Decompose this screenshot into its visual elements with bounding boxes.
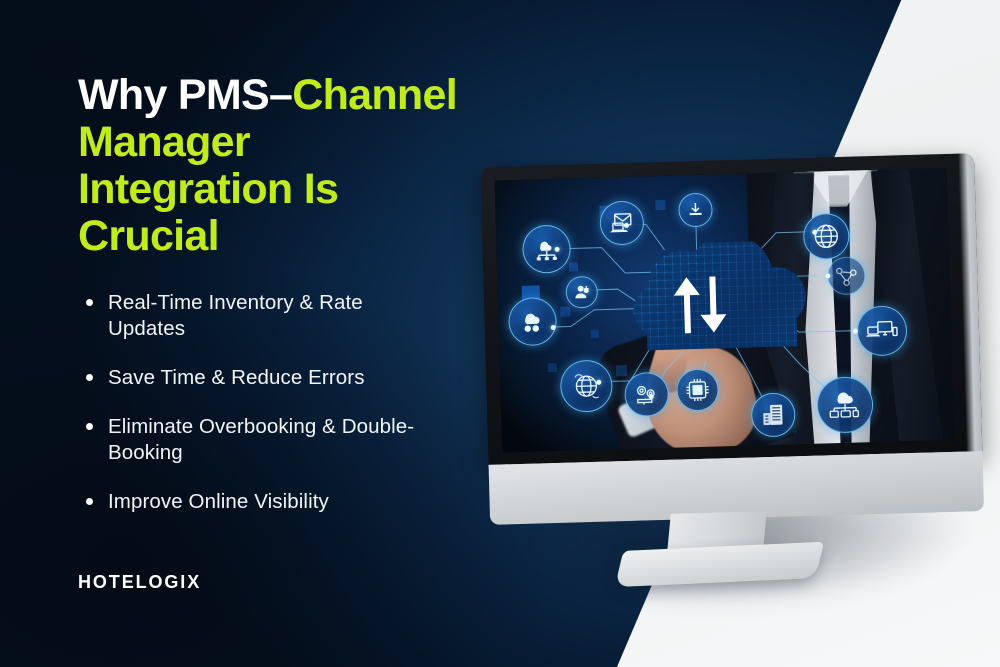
line-joint bbox=[584, 288, 589, 293]
line-joint bbox=[853, 328, 858, 333]
list-item: Eliminate Overbooking & Double-Booking bbox=[78, 414, 438, 466]
list-item-label: Improve Online Visibility bbox=[108, 490, 329, 513]
screen-image bbox=[495, 168, 954, 453]
headline-line-3: Integration Is bbox=[78, 166, 498, 213]
brand-logo: HOTELOGIX bbox=[78, 572, 201, 593]
monitor-body bbox=[480, 153, 982, 467]
page-title: Why PMS–Channel Manager Integration Is C… bbox=[78, 72, 498, 259]
line-joint bbox=[551, 325, 556, 330]
text-content: Why PMS–Channel Manager Integration Is C… bbox=[78, 72, 498, 514]
headline-lime-part: Channel bbox=[292, 71, 457, 119]
monitor-screen bbox=[495, 168, 954, 453]
list-item: Save Time & Reduce Errors bbox=[78, 365, 438, 391]
headline-line-2: Manager bbox=[78, 119, 498, 166]
bullet-dot-icon bbox=[86, 374, 93, 381]
list-item-label: Eliminate Overbooking & Double-Booking bbox=[108, 415, 414, 464]
headline-line-1: Why PMS–Channel bbox=[78, 72, 498, 119]
list-item: Improve Online Visibility bbox=[78, 489, 438, 515]
line-joint bbox=[812, 230, 817, 235]
benefits-list: Real-Time Inventory & Rate Updates Save … bbox=[78, 290, 498, 514]
bullet-dot-icon bbox=[86, 423, 93, 430]
bullet-dot-icon bbox=[86, 498, 93, 505]
sync-arrows-icon bbox=[667, 272, 739, 336]
list-item-label: Save Time & Reduce Errors bbox=[108, 366, 365, 389]
line-joint bbox=[554, 247, 559, 252]
headline-white-part: Why PMS bbox=[78, 71, 269, 119]
list-item: Real-Time Inventory & Rate Updates bbox=[78, 290, 438, 342]
line-joint bbox=[649, 394, 654, 399]
poster-canvas: Why PMS–Channel Manager Integration Is C… bbox=[0, 0, 1000, 667]
bullet-dot-icon bbox=[86, 299, 93, 306]
list-item-label: Real-Time Inventory & Rate Updates bbox=[108, 291, 363, 340]
headline-line-4: Crucial bbox=[78, 213, 498, 260]
monitor-illustration bbox=[480, 153, 986, 587]
headline-dash: – bbox=[269, 71, 292, 119]
